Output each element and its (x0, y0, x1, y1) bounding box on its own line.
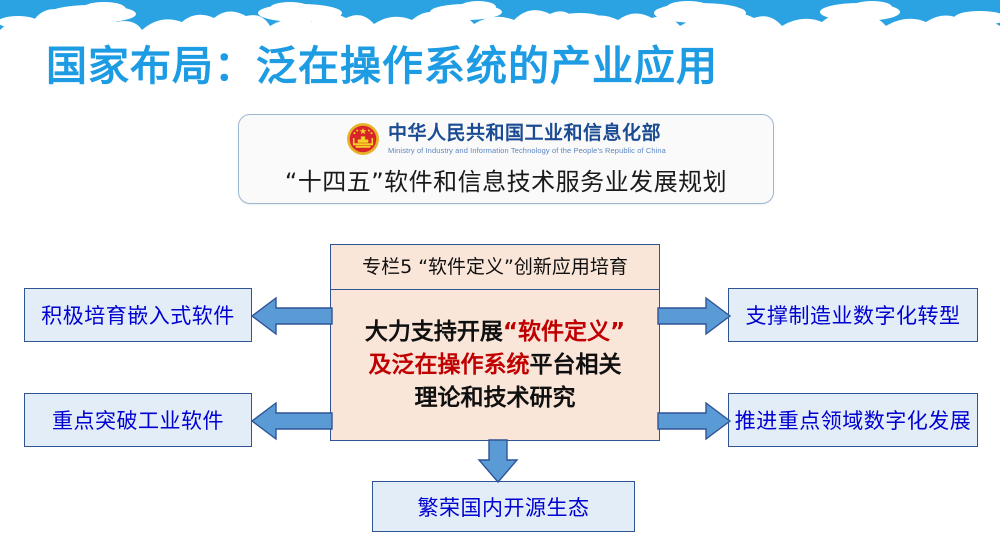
box-left-top[interactable]: 积极培育嵌入式软件 (24, 288, 252, 342)
arrow-left-icon (250, 400, 334, 442)
box-bottom[interactable]: 繁荣国内开源生态 (372, 481, 635, 532)
plain-text: 理论和技术研究 (414, 385, 575, 411)
center-box: 专栏5 “软件定义”创新应用培育 大力支持开展“软件定义”及泛在操作系统平台相关… (330, 244, 660, 441)
arrow-right-icon (656, 400, 732, 442)
center-box-line: 大力支持开展“软件定义” (365, 316, 625, 349)
plain-text: 大力支持开展 (365, 319, 503, 345)
page-title: 国家布局：泛在操作系统的产业应用 (46, 32, 718, 92)
ministry-text-group: 中华人民共和国工业和信息化部 Ministry of Industry and … (388, 123, 666, 156)
center-box-line: 理论和技术研究 (365, 382, 625, 415)
ministry-header: 中华人民共和国工业和信息化部 Ministry of Industry and … (239, 115, 773, 156)
center-box-body: 大力支持开展“软件定义”及泛在操作系统平台相关理论和技术研究 (331, 290, 659, 440)
china-national-emblem-icon (346, 122, 380, 156)
plan-title: “十四五”软件和信息技术服务业发展规划 (239, 162, 773, 197)
box-left-bottom[interactable]: 重点突破工业软件 (24, 393, 252, 447)
highlighted-text: 及泛在操作系统 (368, 352, 529, 378)
arrow-right-icon (656, 295, 732, 337)
ministry-banner-card: 中华人民共和国工业和信息化部 Ministry of Industry and … (238, 114, 774, 204)
box-right-bottom[interactable]: 推进重点领域数字化发展 (728, 393, 978, 447)
center-box-lines: 大力支持开展“软件定义”及泛在操作系统平台相关理论和技术研究 (365, 316, 625, 415)
highlighted-text: “软件定义” (503, 319, 625, 345)
ministry-name-en: Ministry of Industry and Information Tec… (388, 145, 666, 156)
arrow-down-icon (476, 438, 520, 484)
center-box-line: 及泛在操作系统平台相关 (365, 349, 625, 382)
ministry-name-cn: 中华人民共和国工业和信息化部 (388, 123, 666, 144)
plain-text: 平台相关 (529, 352, 621, 378)
center-box-header: 专栏5 “软件定义”创新应用培育 (331, 245, 659, 290)
box-right-top[interactable]: 支撑制造业数字化转型 (728, 288, 978, 342)
arrow-left-icon (250, 295, 334, 337)
